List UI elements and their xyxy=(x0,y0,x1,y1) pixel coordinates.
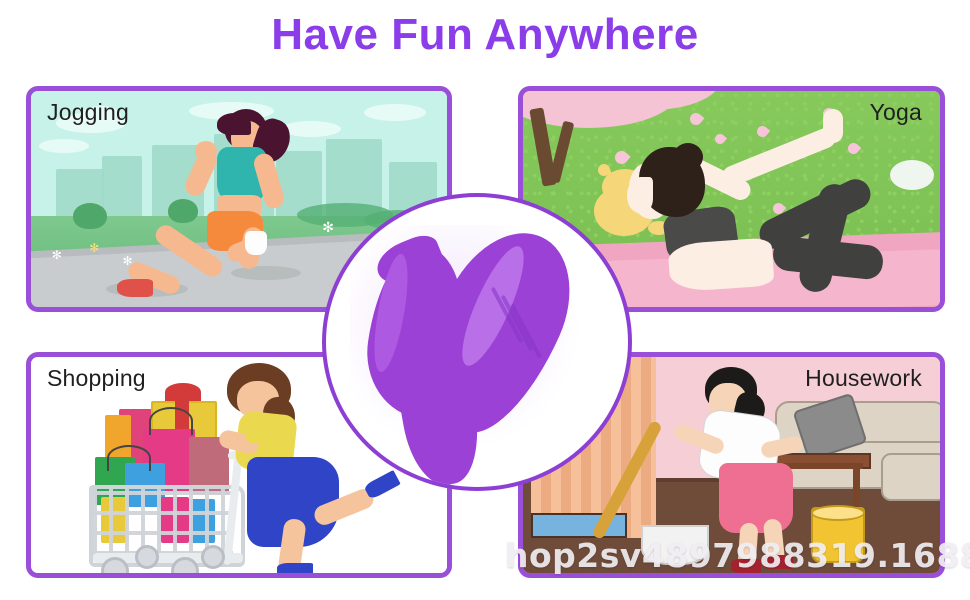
watermark-text: hop2sv4897988319.1688.com xyxy=(505,536,970,575)
runner-shoe-back xyxy=(117,279,153,297)
bucket-rim xyxy=(811,505,865,521)
flower-icon: ✻ xyxy=(322,221,334,233)
runner-fringe xyxy=(217,113,251,135)
poster-canvas: Have Fun Anywhere ✻ ✻ xyxy=(0,0,970,600)
flower-icon: ✻ xyxy=(89,242,99,254)
cart-wheel xyxy=(135,545,159,569)
tree-icon xyxy=(73,203,107,229)
panel-label-yoga: Yoga xyxy=(870,99,922,126)
yogi-torso xyxy=(667,237,774,292)
shadow xyxy=(231,266,301,280)
bag-handle xyxy=(107,445,151,471)
page-title: Have Fun Anywhere xyxy=(0,10,970,60)
maid-skirt xyxy=(719,463,793,533)
yogi-hair-bun xyxy=(673,143,703,171)
building-shape xyxy=(102,156,142,225)
yogi-face xyxy=(627,177,653,213)
cloud-icon xyxy=(364,104,426,121)
panel-label-shopping: Shopping xyxy=(47,365,146,392)
cart-wheel xyxy=(201,545,225,569)
product-highlight-circle[interactable] xyxy=(322,193,632,491)
tree-icon xyxy=(168,199,198,223)
runner-shoe-front xyxy=(245,231,267,255)
bag-handle xyxy=(149,407,193,435)
runner-fist xyxy=(195,141,217,161)
gift-bow xyxy=(165,383,201,401)
flower-cluster xyxy=(890,160,934,190)
shopper-shoe xyxy=(277,563,313,573)
cloud-icon xyxy=(39,139,89,153)
flower-icon: ✻ xyxy=(52,249,62,261)
sofa-arm xyxy=(881,453,940,501)
panel-label-housework: Housework xyxy=(805,365,922,392)
panel-label-jogging: Jogging xyxy=(47,99,129,126)
